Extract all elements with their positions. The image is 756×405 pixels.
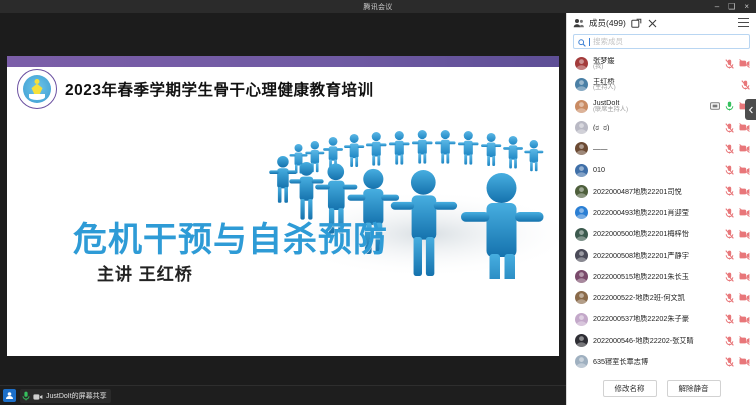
participant-name: 2022000522-地质2班-何文凯 — [593, 294, 720, 302]
participant-name-block: 2022000546-地质22202-张艾睛 — [593, 337, 720, 345]
participant-row[interactable]: 2022000546-地质22202-张艾睛 — [567, 330, 756, 351]
camera-off-icon[interactable] — [739, 251, 750, 260]
participant-name-block: 2022000515地质22201朱长玉 — [593, 273, 720, 281]
participant-name-block: 2022000500地质22201梅梓怡 — [593, 230, 720, 238]
screen-share-indicator[interactable]: JustDoIt的屏幕共享 — [20, 389, 111, 403]
participant-name: (ಠ_ಠ) — [593, 124, 720, 132]
screen-share-icon[interactable] — [710, 102, 720, 111]
avatar — [575, 291, 588, 304]
search-icon — [578, 38, 586, 46]
participant-status-icons — [725, 123, 750, 133]
participant-role: (联席主持人) — [593, 107, 705, 114]
slide-header-title: 2023年春季学期学生骨干心理健康教育培训 — [65, 78, 373, 100]
microphone-muted-icon[interactable] — [725, 165, 734, 175]
avatar — [575, 164, 588, 177]
avatar — [575, 355, 588, 368]
microphone-muted-icon[interactable] — [725, 357, 734, 367]
participant-name: 2022000493地质22201肖迎莹 — [593, 209, 720, 217]
participant-name: 2022000508地质22201严静宇 — [593, 252, 720, 260]
participant-status-icons — [725, 144, 750, 154]
camera-icon — [33, 392, 43, 400]
participant-name: 635寝室长覃志博 — [593, 358, 720, 366]
camera-off-icon[interactable] — [739, 166, 750, 175]
avatar — [575, 206, 588, 219]
text-caret — [589, 38, 590, 46]
microphone-muted-icon[interactable] — [725, 144, 734, 154]
microphone-muted-icon[interactable] — [725, 314, 734, 324]
search-placeholder: 搜索成员 — [593, 36, 623, 47]
search-input[interactable]: 搜索成员 — [573, 34, 750, 49]
chevron-left-icon[interactable] — [745, 99, 756, 120]
participant-name-block: 2022000493地质22201肖迎莹 — [593, 209, 720, 217]
participant-row[interactable]: 635寝室长覃志博 — [567, 351, 756, 371]
participant-name-block: —— — [593, 145, 720, 153]
microphone-muted-icon[interactable] — [725, 59, 734, 69]
microphone-muted-icon[interactable] — [725, 186, 734, 196]
camera-off-icon[interactable] — [739, 208, 750, 217]
participant-name: —— — [593, 145, 720, 153]
participant-name-block: 2022000508地质22201严静宇 — [593, 252, 720, 260]
avatar — [575, 185, 588, 198]
participant-status-icons — [741, 80, 750, 90]
slide-top-band — [7, 56, 559, 67]
maximize-button[interactable]: ❑ — [728, 3, 735, 11]
window-titlebar: 腾讯会议 – ❑ × — [0, 0, 756, 13]
microphone-muted-icon[interactable] — [725, 272, 734, 282]
participant-name-block: 张梦媛(我) — [593, 57, 720, 71]
camera-off-icon[interactable] — [739, 357, 750, 366]
participant-row[interactable]: 2022000487地质22201司悦 — [567, 181, 756, 202]
avatar — [575, 100, 588, 113]
app-title: 腾讯会议 — [363, 2, 392, 12]
microphone-on-icon[interactable] — [725, 101, 734, 111]
participant-name-block: 2022000522-地质2班-何文凯 — [593, 294, 720, 302]
camera-off-icon[interactable] — [739, 315, 750, 324]
participants-panel: 成员(499) 搜索成员 张梦媛(我)王红桥(主持人)Just — [566, 13, 756, 405]
camera-off-icon[interactable] — [739, 144, 750, 153]
participant-status-icons — [725, 59, 750, 69]
participant-row[interactable]: 2022000515地质22201朱长玉 — [567, 266, 756, 287]
tencent-meeting-window: 腾讯会议 – ❑ × 2023年春季学期学生骨干心理健康教育培训 — [0, 0, 756, 405]
participant-name: 张梦媛 — [593, 57, 720, 65]
unmute-button[interactable]: 解除静音 — [667, 380, 721, 397]
microphone-muted-icon[interactable] — [741, 80, 750, 90]
window-controls: – ❑ × — [715, 0, 754, 13]
avatar — [575, 249, 588, 262]
university-logo-icon — [17, 69, 57, 109]
hamburger-menu-icon[interactable] — [738, 18, 749, 27]
camera-off-icon[interactable] — [739, 123, 750, 132]
participant-row[interactable]: —— — [567, 138, 756, 159]
participant-row[interactable]: JustDoIt(联席主持人) — [567, 96, 756, 117]
avatar — [575, 142, 588, 155]
camera-off-icon[interactable] — [739, 230, 750, 239]
participant-status-icons — [710, 101, 750, 111]
rename-button[interactable]: 修改名称 — [603, 380, 657, 397]
participant-row[interactable]: 2022000493地质22201肖迎莹 — [567, 202, 756, 223]
slide-header: 2023年春季学期学生骨干心理健康教育培训 — [7, 67, 559, 110]
participants-panel-footer: 修改名称 解除静音 — [567, 371, 756, 405]
participant-name: 2022000546-地质22202-张艾睛 — [593, 337, 720, 345]
participant-name: 2022000515地质22201朱长玉 — [593, 273, 720, 281]
participant-status-icons — [725, 314, 750, 324]
avatar — [575, 313, 588, 326]
participant-row[interactable]: 2022000522-地质2班-何文凯 — [567, 287, 756, 308]
avatar — [575, 57, 588, 70]
avatar — [575, 121, 588, 134]
participant-status-icons — [725, 208, 750, 218]
people-icon — [573, 18, 584, 29]
microphone-muted-icon[interactable] — [725, 229, 734, 239]
participant-name-block: 635寝室长覃志博 — [593, 358, 720, 366]
participant-row[interactable]: 张梦媛(我) — [567, 53, 756, 74]
participants-panel-header: 成员(499) — [567, 13, 756, 33]
participant-name: 2022000500地质22201梅梓怡 — [593, 230, 720, 238]
close-icon[interactable] — [647, 18, 658, 29]
participant-name-block: 010 — [593, 166, 720, 174]
participant-role: (我) — [593, 64, 720, 71]
participant-name-block: 王红桥(主持人) — [593, 78, 736, 92]
participant-row[interactable]: 2022000500地质22201梅梓怡 — [567, 223, 756, 244]
participant-role: (主持人) — [593, 85, 736, 92]
participant-name: 010 — [593, 166, 720, 174]
microphone-muted-icon[interactable] — [725, 336, 734, 346]
participant-status-icons — [725, 229, 750, 239]
participant-status-icons — [725, 336, 750, 346]
participant-row[interactable]: 2022000537地质22202朱子豪 — [567, 309, 756, 330]
avatar — [575, 78, 588, 91]
microphone-muted-icon[interactable] — [725, 123, 734, 133]
participant-row[interactable]: 王红桥(主持人) — [567, 74, 756, 95]
camera-off-icon[interactable] — [739, 336, 750, 345]
camera-off-icon[interactable] — [739, 187, 750, 196]
participant-row[interactable]: 2022000508地质22201严静宇 — [567, 245, 756, 266]
participant-name-block: 2022000487地质22201司悦 — [593, 188, 720, 196]
participants-list[interactable]: 张梦媛(我)王红桥(主持人)JustDoIt(联席主持人)(ಠ_ಠ)——0102… — [567, 52, 756, 371]
participant-status-icons — [725, 357, 750, 367]
participant-status-icons — [725, 250, 750, 260]
participant-row[interactable]: (ಠ_ಠ) — [567, 117, 756, 138]
slide-subtitle: 主讲 王红桥 — [97, 260, 193, 285]
participant-name: 2022000487地质22201司悦 — [593, 188, 720, 196]
camera-off-icon[interactable] — [739, 59, 750, 68]
minimize-button[interactable]: – — [715, 3, 719, 11]
participant-row[interactable]: 010 — [567, 159, 756, 180]
participant-name-block: (ಠ_ಠ) — [593, 124, 720, 132]
participant-name: 2022000537地质22202朱子豪 — [593, 315, 720, 323]
meeting-app-icon[interactable] — [3, 389, 16, 402]
screen-share-taskbar: JustDoIt的屏幕共享 — [0, 385, 566, 405]
camera-off-icon[interactable] — [739, 293, 750, 302]
participant-status-icons — [725, 186, 750, 196]
screen-share-label: JustDoIt的屏幕共享 — [46, 391, 107, 401]
shared-screen-stage: 2023年春季学期学生骨干心理健康教育培训 — [0, 13, 566, 385]
avatar — [575, 228, 588, 241]
microphone-muted-icon[interactable] — [725, 250, 734, 260]
microphone-muted-icon[interactable] — [725, 208, 734, 218]
participant-status-icons — [725, 272, 750, 282]
presentation-slide: 2023年春季学期学生骨干心理健康教育培训 — [7, 56, 559, 356]
participant-status-icons — [725, 165, 750, 175]
popout-icon[interactable] — [631, 18, 642, 29]
microphone-muted-icon[interactable] — [725, 293, 734, 303]
search-container: 搜索成员 — [567, 33, 756, 52]
avatar — [575, 334, 588, 347]
participants-count: 成员(499) — [589, 17, 626, 29]
microphone-icon — [22, 391, 30, 401]
close-button[interactable]: × — [744, 3, 749, 11]
avatar — [575, 270, 588, 283]
participant-name-block: 2022000537地质22202朱子豪 — [593, 315, 720, 323]
camera-off-icon[interactable] — [739, 272, 750, 281]
slide-main-title: 危机干预与自杀预防 — [73, 212, 388, 261]
participant-name-block: JustDoIt(联席主持人) — [593, 99, 705, 113]
participant-status-icons — [725, 293, 750, 303]
